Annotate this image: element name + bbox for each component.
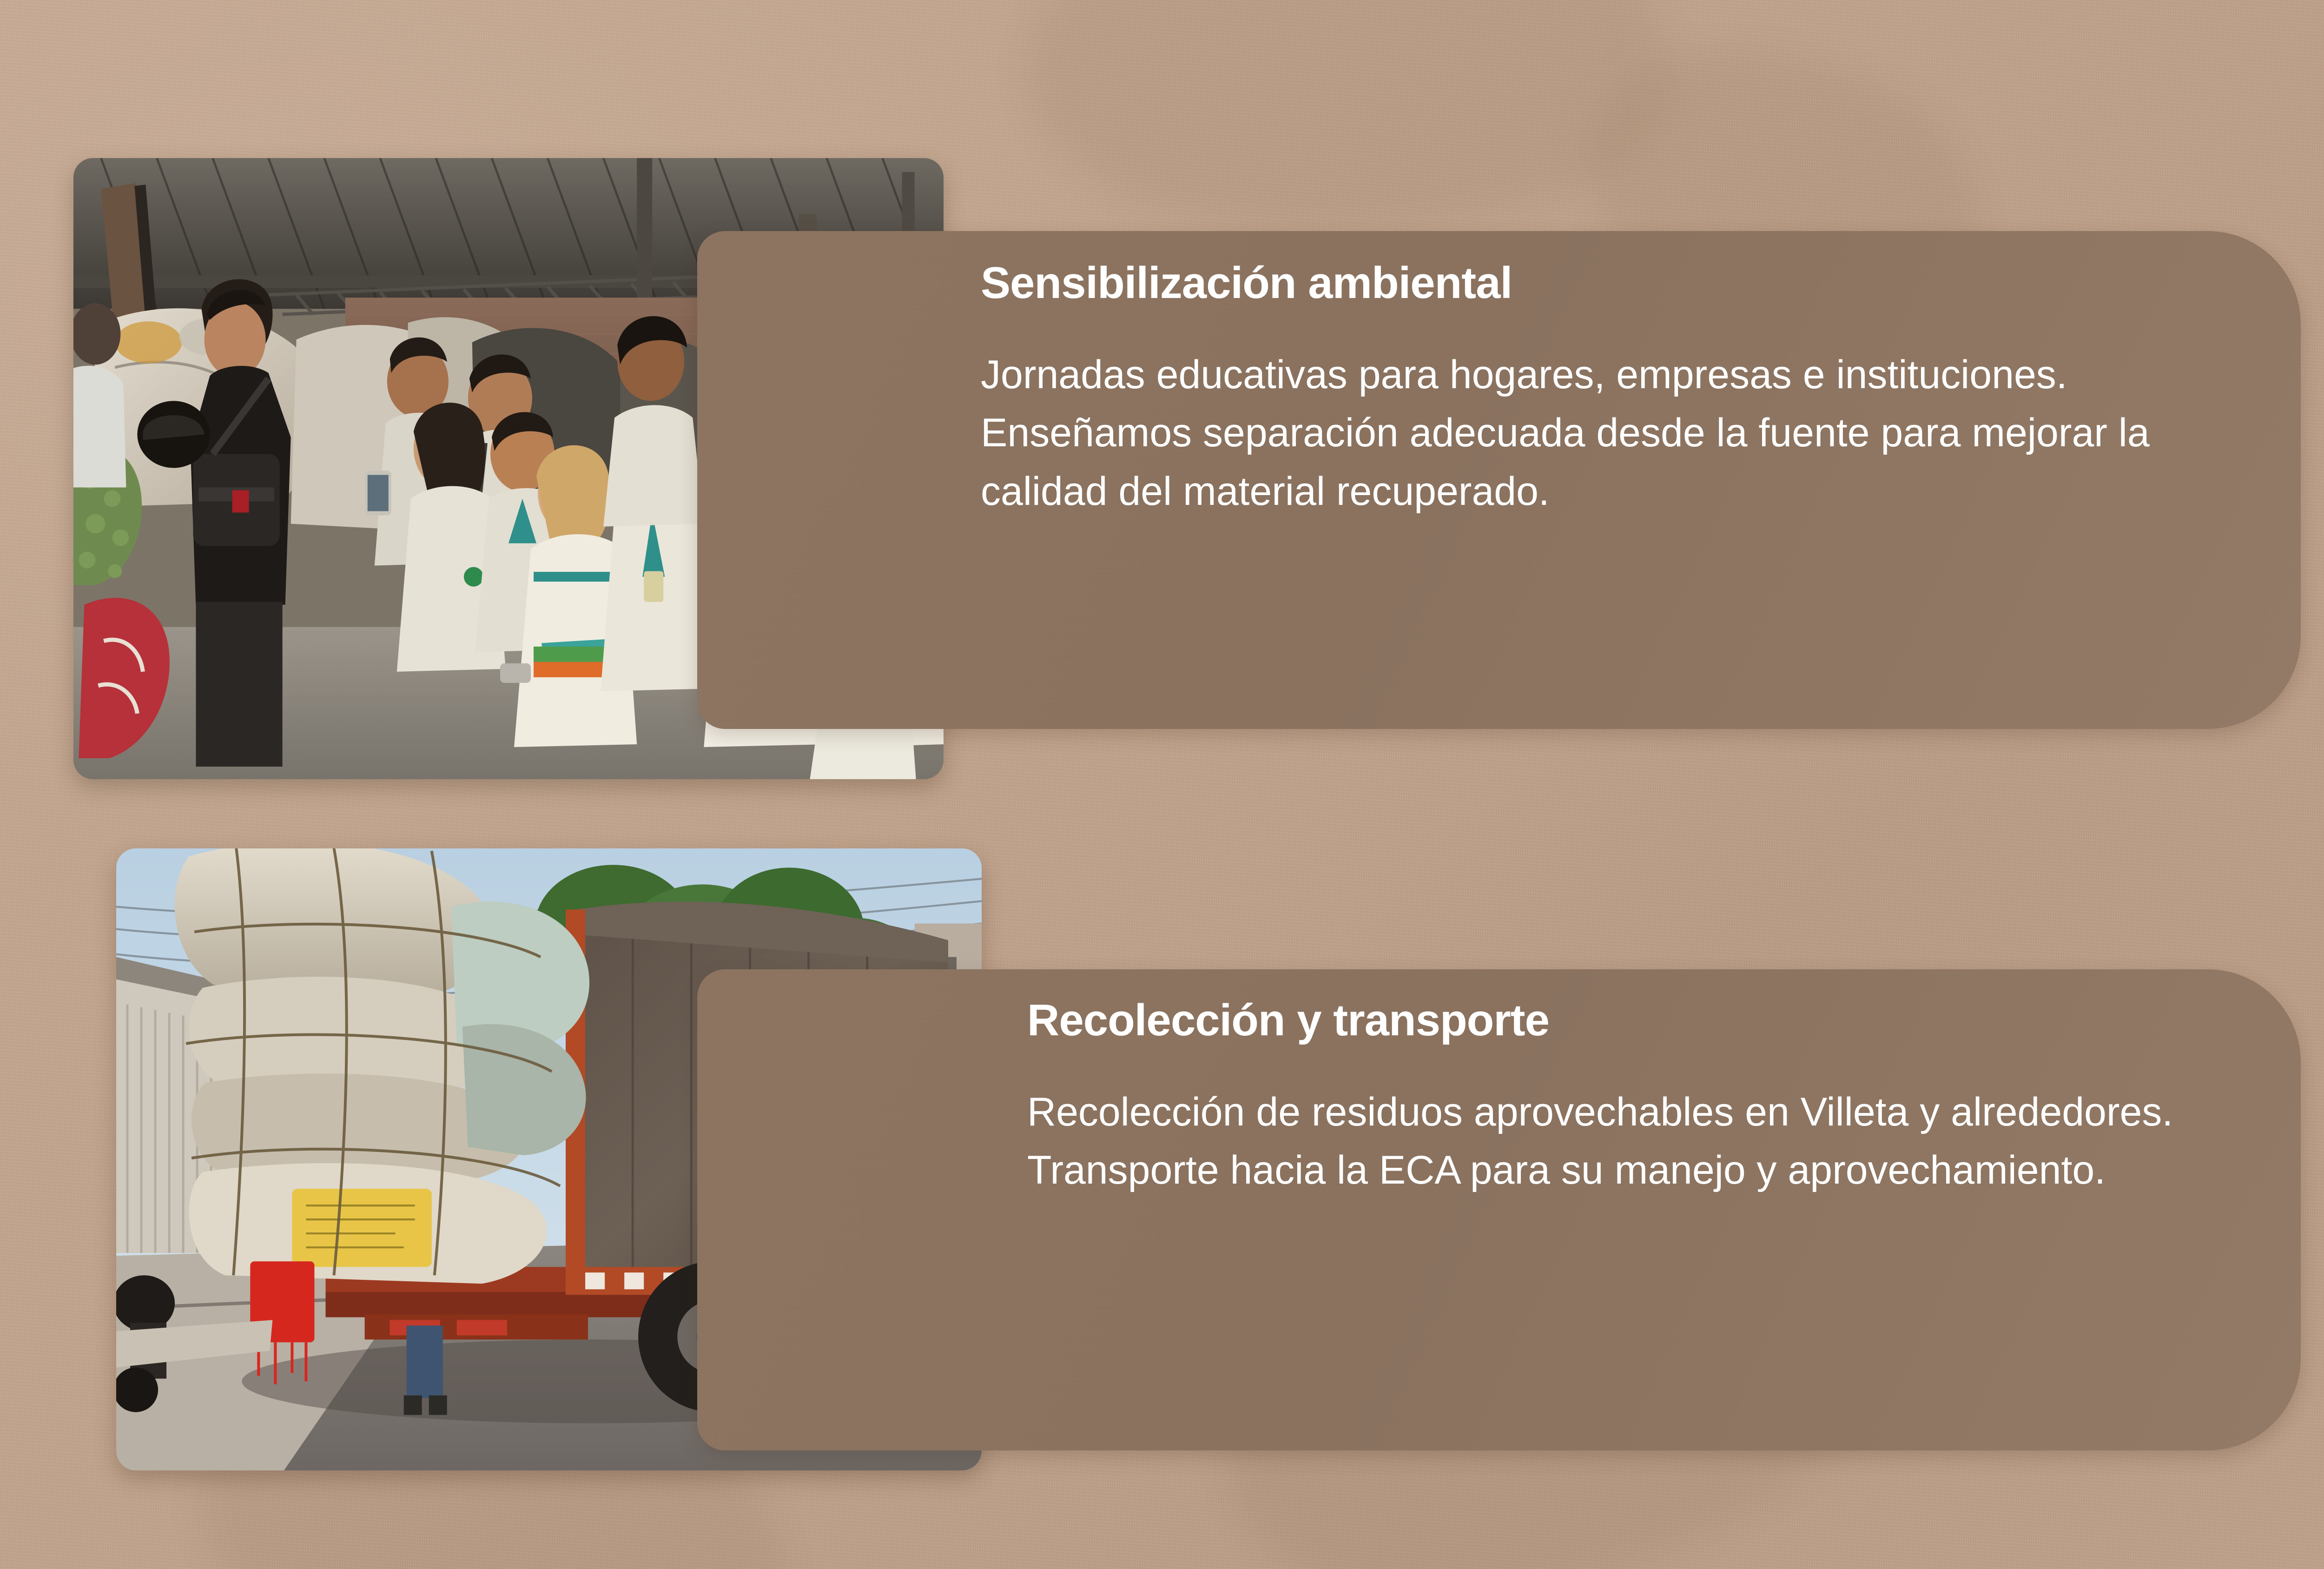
card-recoleccion-y-transporte: Recolección y transporte Recolección de … bbox=[697, 969, 2301, 1450]
card-2-content: Recolección y transporte Recolección de … bbox=[1027, 997, 2278, 1200]
slide-canvas: Sensibilización ambiental Jornadas educa… bbox=[0, 0, 2324, 1569]
card-1-content: Sensibilización ambiental Jornadas educa… bbox=[981, 260, 2278, 521]
card-1-body-line-3: calidad del material recuperado. bbox=[981, 463, 2278, 521]
card-2-body-line-1: Recolección de residuos aprovechables en… bbox=[1027, 1083, 2278, 1142]
card-1-body-line-1: Jornadas educativas para hogares, empres… bbox=[981, 346, 2278, 404]
card-2-title: Recolección y transporte bbox=[1027, 997, 2278, 1044]
card-2-body-line-2: Transporte hacia la ECA para su manejo y… bbox=[1027, 1141, 2278, 1200]
card-1-body-line-2: Enseñamos separación adecuada desde la f… bbox=[981, 404, 2278, 463]
card-sensibilizacion-ambiental: Sensibilización ambiental Jornadas educa… bbox=[697, 231, 2301, 729]
card-1-title: Sensibilización ambiental bbox=[981, 260, 2278, 307]
